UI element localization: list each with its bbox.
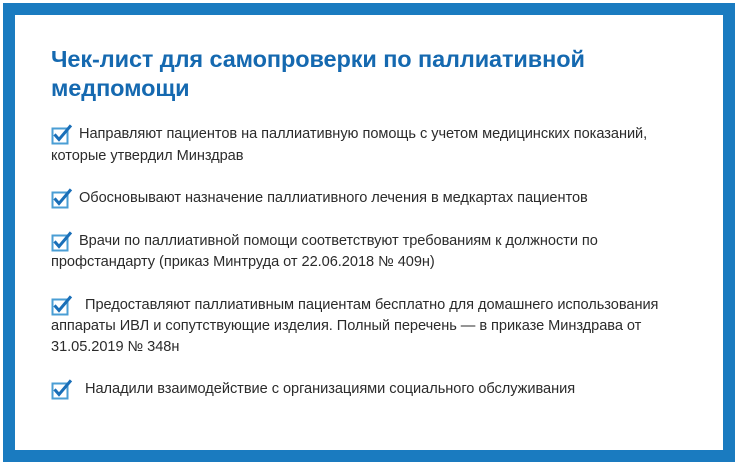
document-content: Чек-лист для самопроверки по паллиативно… [51, 45, 693, 436]
document-border-frame: Чек-лист для самопроверки по паллиативно… [3, 3, 735, 462]
page-title: Чек-лист для самопроверки по паллиативно… [51, 45, 676, 102]
list-item-label: Обосновывают назначение паллиативного ле… [51, 188, 693, 209]
checklist: Направляют пациентов на паллиативную пом… [51, 124, 693, 401]
checked-checkbox-icon[interactable] [51, 295, 73, 317]
list-item: Предоставляют паллиативным пациентам бес… [51, 295, 693, 359]
checked-checkbox-icon[interactable] [51, 379, 73, 401]
checked-checkbox-icon[interactable] [51, 231, 73, 253]
checklist-document: Чек-лист для самопроверки по паллиативно… [0, 0, 738, 465]
list-item-label: Врачи по паллиативной помощи соответству… [51, 231, 693, 274]
checked-checkbox-icon[interactable] [51, 124, 73, 146]
list-item-label: Предоставляют паллиативным пациентам бес… [51, 295, 693, 359]
list-item: Врачи по паллиативной помощи соответству… [51, 231, 693, 274]
list-item: Направляют пациентов на паллиативную пом… [51, 124, 693, 167]
list-item: Наладили взаимодействие с организациями … [51, 379, 693, 401]
list-item-label: Наладили взаимодействие с организациями … [51, 379, 693, 400]
list-item-label: Направляют пациентов на паллиативную пом… [51, 124, 693, 167]
checked-checkbox-icon[interactable] [51, 188, 73, 210]
list-item: Обосновывают назначение паллиативного ле… [51, 188, 693, 210]
